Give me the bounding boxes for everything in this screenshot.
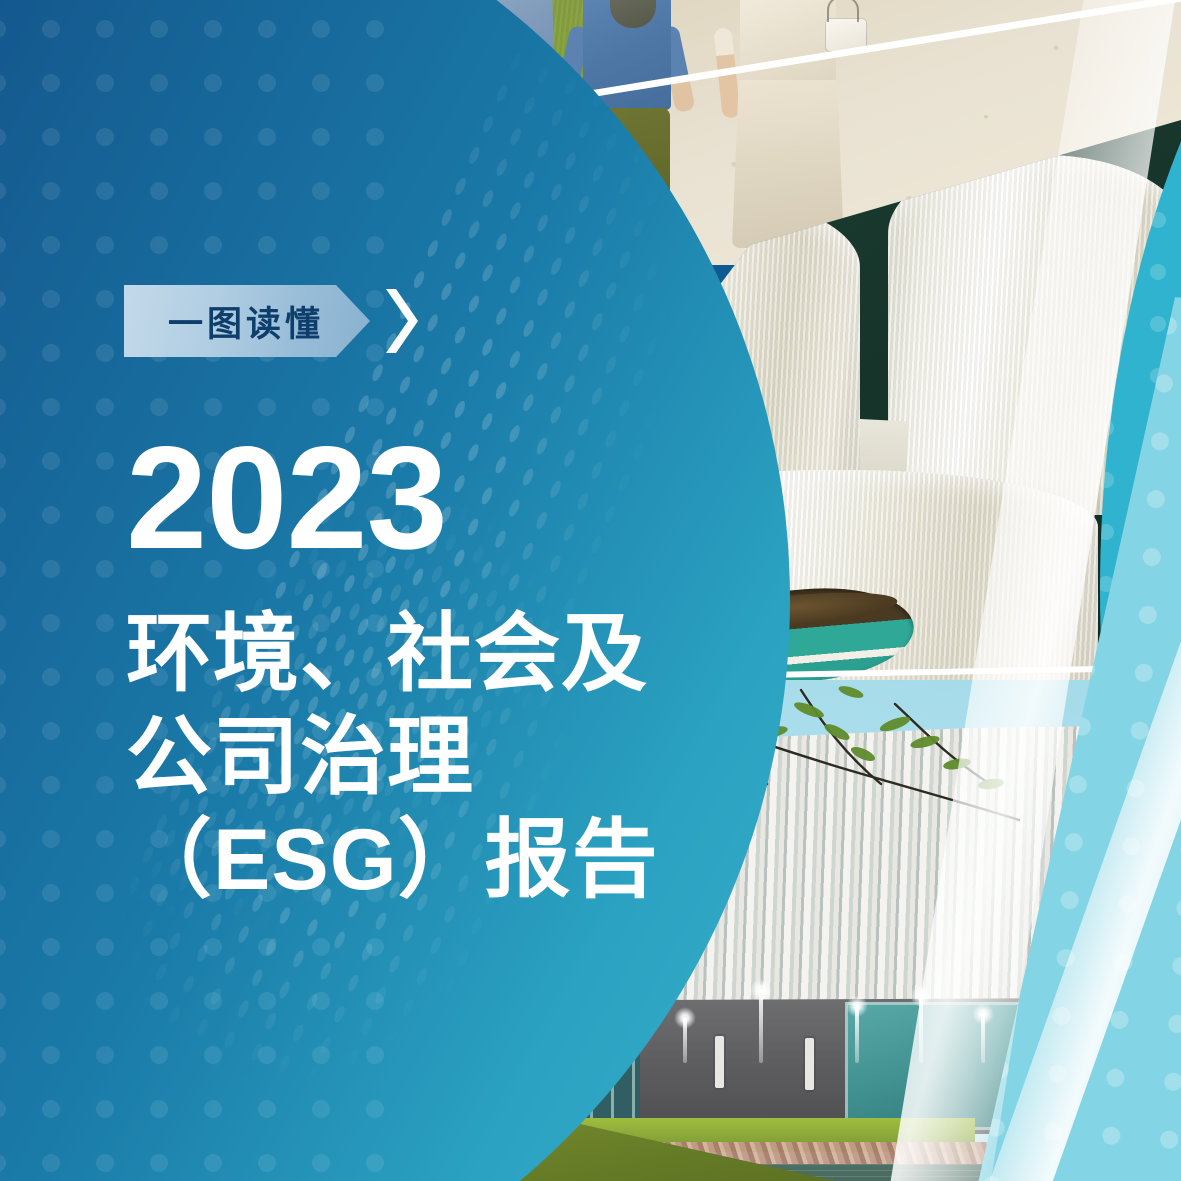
badge-label: 一图读懂 bbox=[168, 296, 324, 347]
report-title: 环境、社会及 公司治理 （ESG）报告 bbox=[126, 603, 686, 913]
read-at-a-glance-badge[interactable]: 一图读懂 bbox=[124, 285, 422, 357]
fountain-jet-5 bbox=[759, 989, 763, 1063]
facade-slot-window-1 bbox=[715, 1036, 724, 1088]
fountain-jet-6 bbox=[855, 1005, 859, 1063]
cover-content: 一图读懂 2023 环境、社会及 公司治理 （ESG）报告 bbox=[0, 0, 700, 1181]
report-title-line-2: 公司治理 bbox=[126, 706, 686, 809]
badge-banner: 一图读懂 bbox=[124, 285, 370, 357]
facade-slot-window-2 bbox=[805, 1038, 814, 1090]
report-title-line-1: 环境、社会及 bbox=[126, 603, 686, 706]
report-year: 2023 bbox=[126, 428, 447, 568]
esg-report-cover: 一图读懂 2023 环境、社会及 公司治理 （ESG）报告 bbox=[0, 0, 1181, 1181]
chevron-double-right-icon bbox=[382, 285, 422, 357]
report-title-line-3: （ESG）报告 bbox=[126, 809, 686, 912]
